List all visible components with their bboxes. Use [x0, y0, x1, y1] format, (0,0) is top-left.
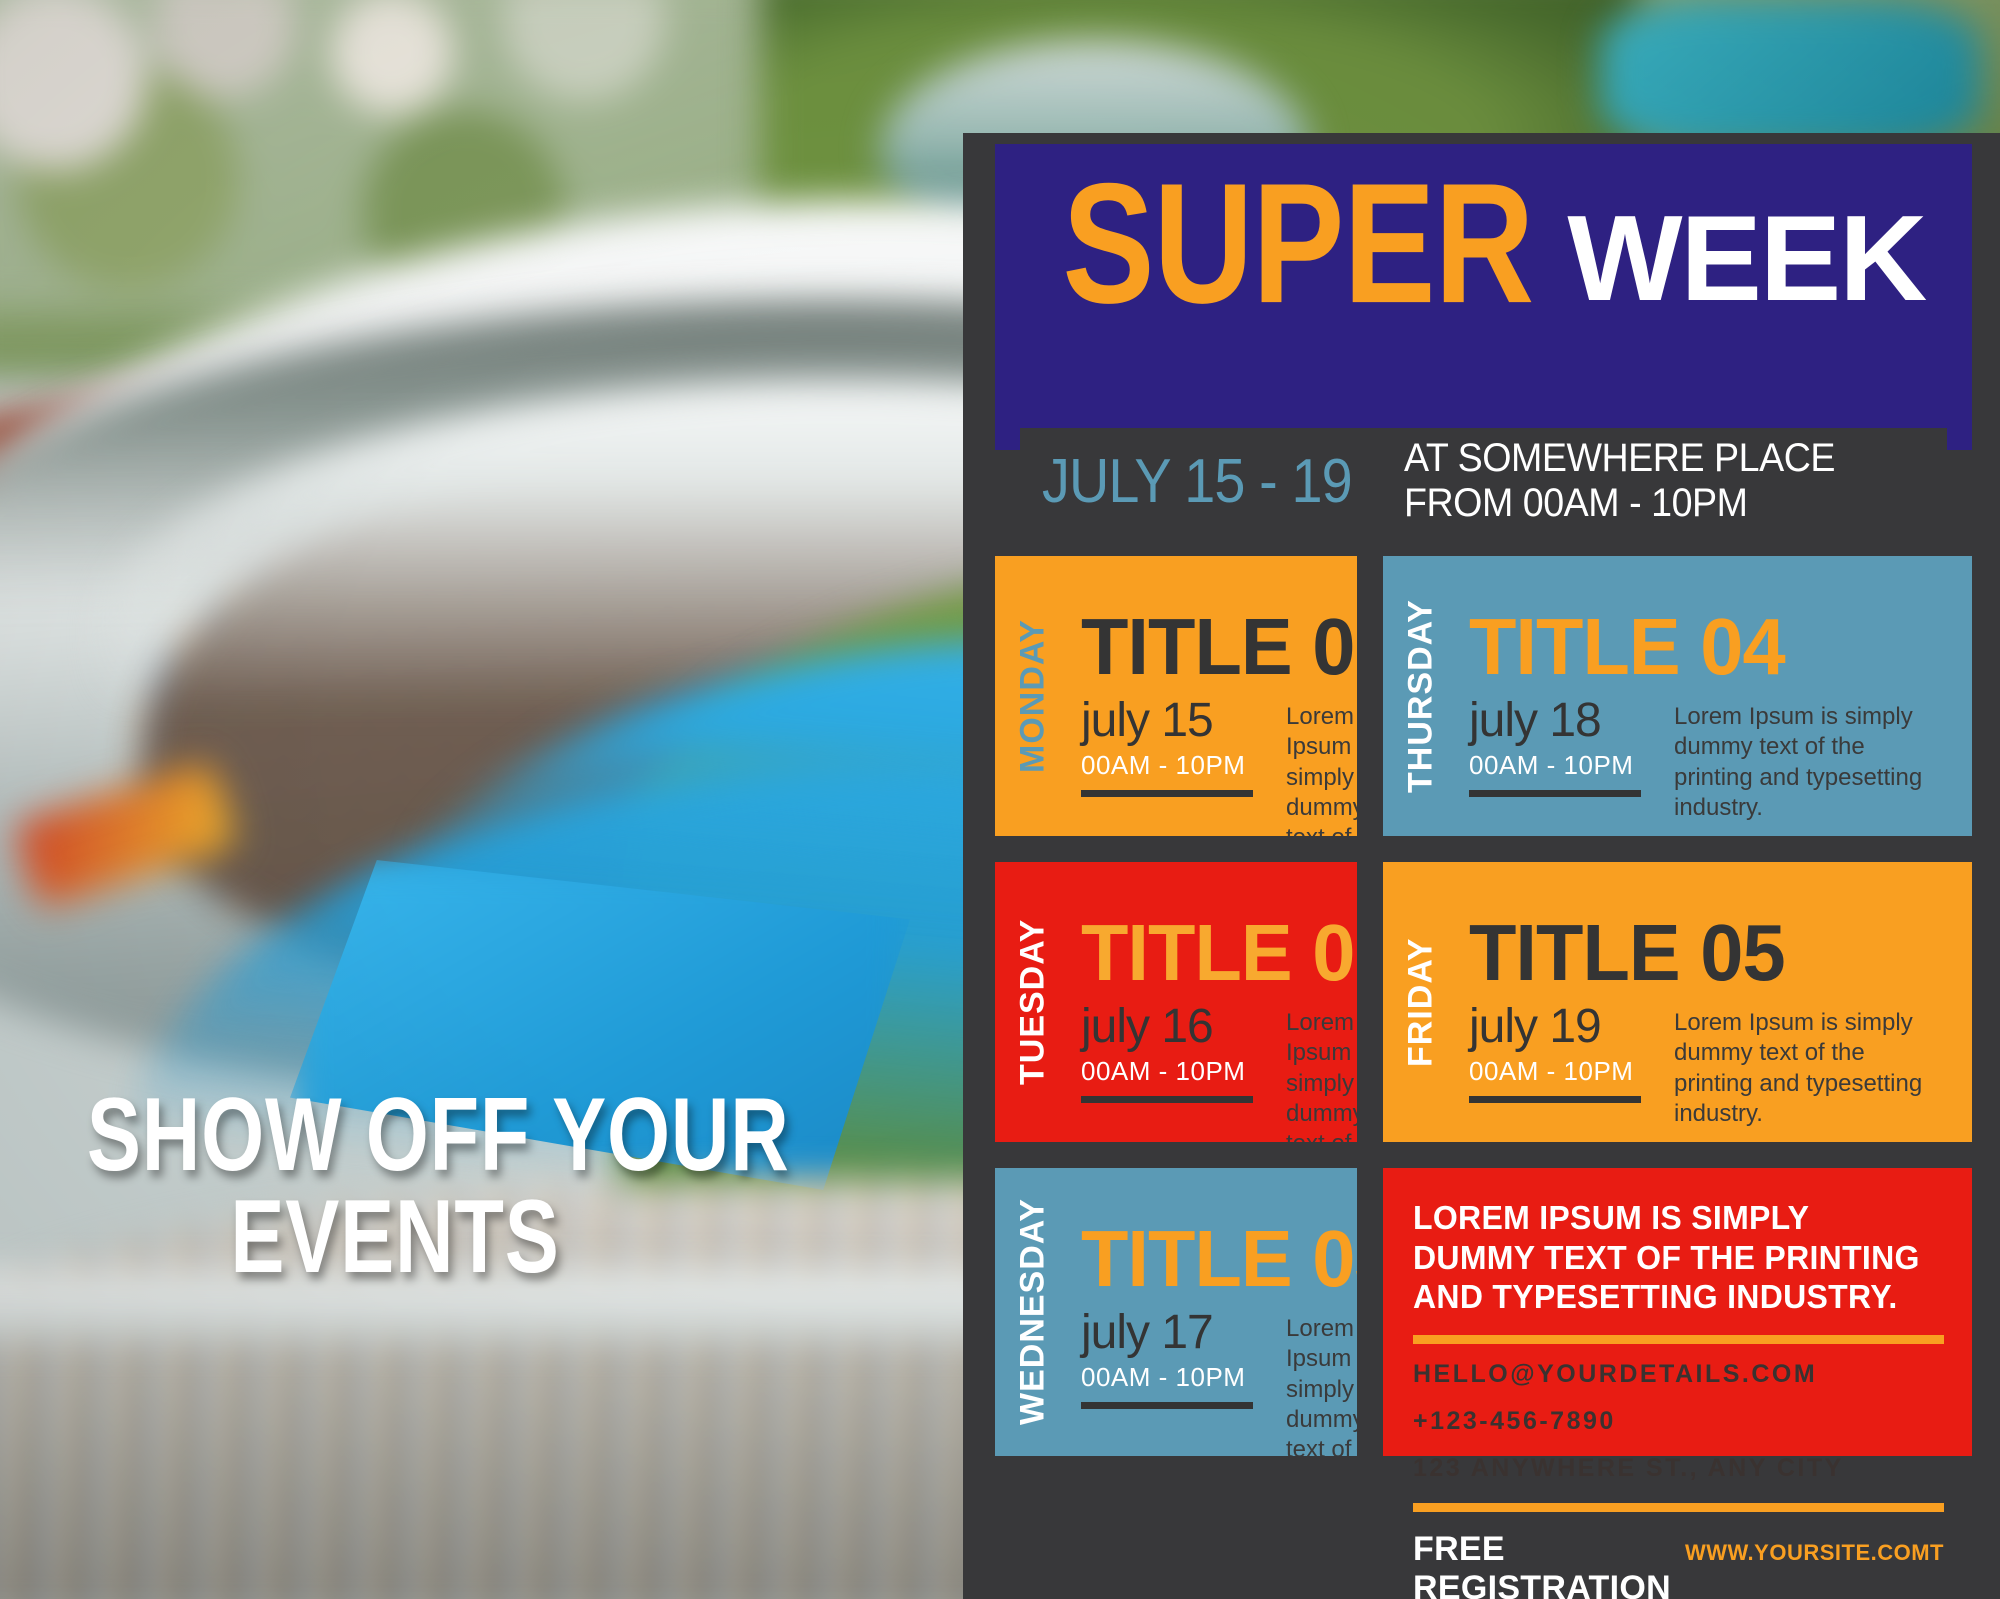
contact-divider-top	[1413, 1335, 1944, 1344]
event-date-block: july 16 00AM - 10PM	[1081, 1002, 1276, 1103]
day-label-thursday: THURSDAY	[1393, 556, 1449, 836]
event-card-grid: MONDAY TITLE 01 july 15 00AM - 10PM Lore…	[995, 556, 1972, 1456]
event-schedule-panel: SUPER WEEK JULY 15 - 19 AT SOMEWHERE PLA…	[963, 133, 2000, 1599]
event-venue-info: AT SOMEWHERE PLACE FROM 00AM - 10PM	[1404, 436, 1835, 526]
hero-headline-line-2: EVENTS	[87, 1187, 703, 1289]
event-time-tuesday: 00AM - 10PM	[1081, 1056, 1276, 1087]
event-title-wednesday: TITLE 03	[1081, 1222, 1327, 1296]
event-time-thursday: 00AM - 10PM	[1469, 750, 1664, 781]
event-date-monday: july 15	[1081, 696, 1276, 746]
event-date-friday: july 19	[1469, 1002, 1664, 1052]
event-date-range: JULY 15 - 19	[1042, 446, 1352, 517]
event-date-block: july 17 00AM - 10PM	[1081, 1308, 1276, 1409]
event-card-lower: july 18 00AM - 10PM Lorem Ipsum is simpl…	[1469, 696, 1950, 824]
event-card-lower: july 19 00AM - 10PM Lorem Ipsum is simpl…	[1469, 1002, 1950, 1130]
event-desc-friday: Lorem Ipsum is simply dummy text of the …	[1674, 1008, 1924, 1130]
event-card-body: TITLE 05 july 19 00AM - 10PM Lorem Ipsum…	[1469, 880, 1950, 1129]
event-date-block: july 18 00AM - 10PM	[1469, 696, 1664, 797]
event-date-tuesday: july 16	[1081, 1002, 1276, 1052]
event-title-tuesday: TITLE 02	[1081, 916, 1327, 990]
event-date-rule	[1469, 790, 1641, 797]
event-card-lower: july 15 00AM - 10PM Lorem Ipsum is simpl…	[1081, 696, 1335, 836]
title-word-super: SUPER	[1062, 170, 1533, 317]
event-card-body: TITLE 04 july 18 00AM - 10PM Lorem Ipsum…	[1469, 574, 1950, 823]
venue-hours: FROM 00AM - 10PM	[1404, 481, 1835, 526]
event-date-thursday: july 18	[1469, 696, 1664, 746]
day-label-friday: FRIDAY	[1393, 862, 1449, 1142]
event-card-body: TITLE 02 july 16 00AM - 10PM Lorem Ipsum…	[1081, 880, 1335, 1142]
event-title-monday: TITLE 01	[1081, 610, 1327, 684]
event-date-rule	[1469, 1096, 1641, 1103]
day-label-wednesday: WEDNESDAY	[1005, 1168, 1061, 1456]
title-word-week: WEEK	[1567, 206, 1925, 311]
event-desc-wednesday: Lorem Ipsum is simply dummy text of the …	[1286, 1314, 1357, 1456]
contact-address: 123 ANYWHERE ST., ANY CITY	[1413, 1456, 1944, 1481]
event-date-wednesday: july 17	[1081, 1308, 1276, 1358]
event-card-body: TITLE 01 july 15 00AM - 10PM Lorem Ipsum…	[1081, 574, 1335, 836]
event-time-monday: 00AM - 10PM	[1081, 750, 1276, 781]
event-card-friday[interactable]: FRIDAY TITLE 05 july 19 00AM - 10PM Lore…	[1383, 862, 1972, 1142]
event-card-wednesday[interactable]: WEDNESDAY TITLE 03 july 17 00AM - 10PM L…	[995, 1168, 1357, 1456]
event-date-rule	[1081, 1402, 1253, 1409]
contact-email[interactable]: HELLO@YOURDETAILS.COM	[1413, 1362, 1944, 1387]
contact-info-block: LOREM IPSUM IS SIMPLY DUMMY TEXT OF THE …	[1383, 1168, 1972, 1456]
date-venue-bar: JULY 15 - 19 AT SOMEWHERE PLACE FROM 00A…	[1020, 428, 1947, 534]
event-date-block: july 15 00AM - 10PM	[1081, 696, 1276, 797]
event-desc-tuesday: Lorem Ipsum is simply dummy text of the …	[1286, 1008, 1357, 1142]
hero-headline: SHOW OFF YOUR EVENTS	[87, 1085, 703, 1289]
event-card-body: TITLE 03 july 17 00AM - 10PM Lorem Ipsum…	[1081, 1186, 1335, 1456]
registration-footer: FREE REGISTRATION WWW.YOURSITE.COMT	[1413, 1530, 1944, 1599]
event-date-block: july 19 00AM - 10PM	[1469, 1002, 1664, 1103]
event-card-tuesday[interactable]: TUESDAY TITLE 02 july 16 00AM - 10PM Lor…	[995, 862, 1357, 1142]
hero-headline-line-1: SHOW OFF YOUR	[87, 1085, 703, 1187]
event-date-rule	[1081, 790, 1253, 797]
event-title-thursday: TITLE 04	[1469, 610, 1936, 684]
website-url[interactable]: WWW.YOURSITE.COMT	[1685, 1540, 1944, 1566]
venue-place: AT SOMEWHERE PLACE	[1404, 436, 1835, 481]
contact-headline: LOREM IPSUM IS SIMPLY DUMMY TEXT OF THE …	[1413, 1198, 1928, 1317]
event-title-friday: TITLE 05	[1469, 916, 1936, 990]
contact-divider-bottom	[1413, 1503, 1944, 1512]
event-card-lower: july 16 00AM - 10PM Lorem Ipsum is simpl…	[1081, 1002, 1335, 1142]
flyer-header: SUPER WEEK JULY 15 - 19 AT SOMEWHERE PLA…	[995, 144, 1972, 450]
event-desc-thursday: Lorem Ipsum is simply dummy text of the …	[1674, 702, 1924, 824]
contact-phone[interactable]: +123-456-7890	[1413, 1409, 1944, 1434]
event-card-monday[interactable]: MONDAY TITLE 01 july 15 00AM - 10PM Lore…	[995, 556, 1357, 836]
day-label-monday: MONDAY	[1005, 556, 1061, 836]
event-time-wednesday: 00AM - 10PM	[1081, 1362, 1276, 1393]
event-date-rule	[1081, 1096, 1253, 1103]
event-time-friday: 00AM - 10PM	[1469, 1056, 1664, 1087]
event-card-thursday[interactable]: THURSDAY TITLE 04 july 18 00AM - 10PM Lo…	[1383, 556, 1972, 836]
contact-details: HELLO@YOURDETAILS.COM +123-456-7890 123 …	[1413, 1362, 1944, 1481]
flyer-title: SUPER WEEK	[995, 144, 1972, 317]
event-card-lower: july 17 00AM - 10PM Lorem Ipsum is simpl…	[1081, 1308, 1335, 1456]
free-registration-label: FREE REGISTRATION	[1413, 1530, 1671, 1599]
day-label-tuesday: TUESDAY	[1005, 862, 1061, 1142]
event-desc-monday: Lorem Ipsum is simply dummy text of the …	[1286, 702, 1357, 836]
